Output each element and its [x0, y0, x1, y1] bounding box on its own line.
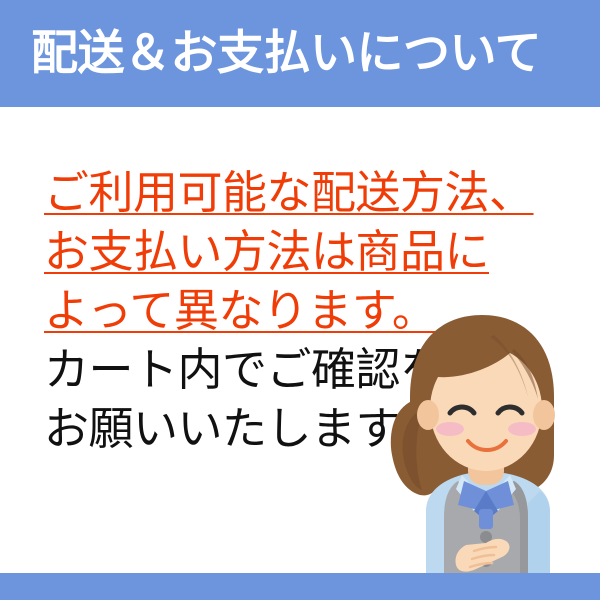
header-bar: 配送＆お支払いについて: [0, 0, 600, 107]
smiling-female-staff-illustration: [370, 305, 600, 573]
footer-bar: [0, 573, 600, 600]
page-title: 配送＆お支払いについて: [31, 30, 541, 77]
message-line-2: お支払い方法は商品に: [44, 222, 534, 281]
message-line-1: ご利用可能な配送方法、: [44, 163, 534, 222]
shipping-payment-banner: 配送＆お支払いについて ご利用可能な配送方法、 お支払い方法は商品に よって異な…: [0, 0, 600, 600]
